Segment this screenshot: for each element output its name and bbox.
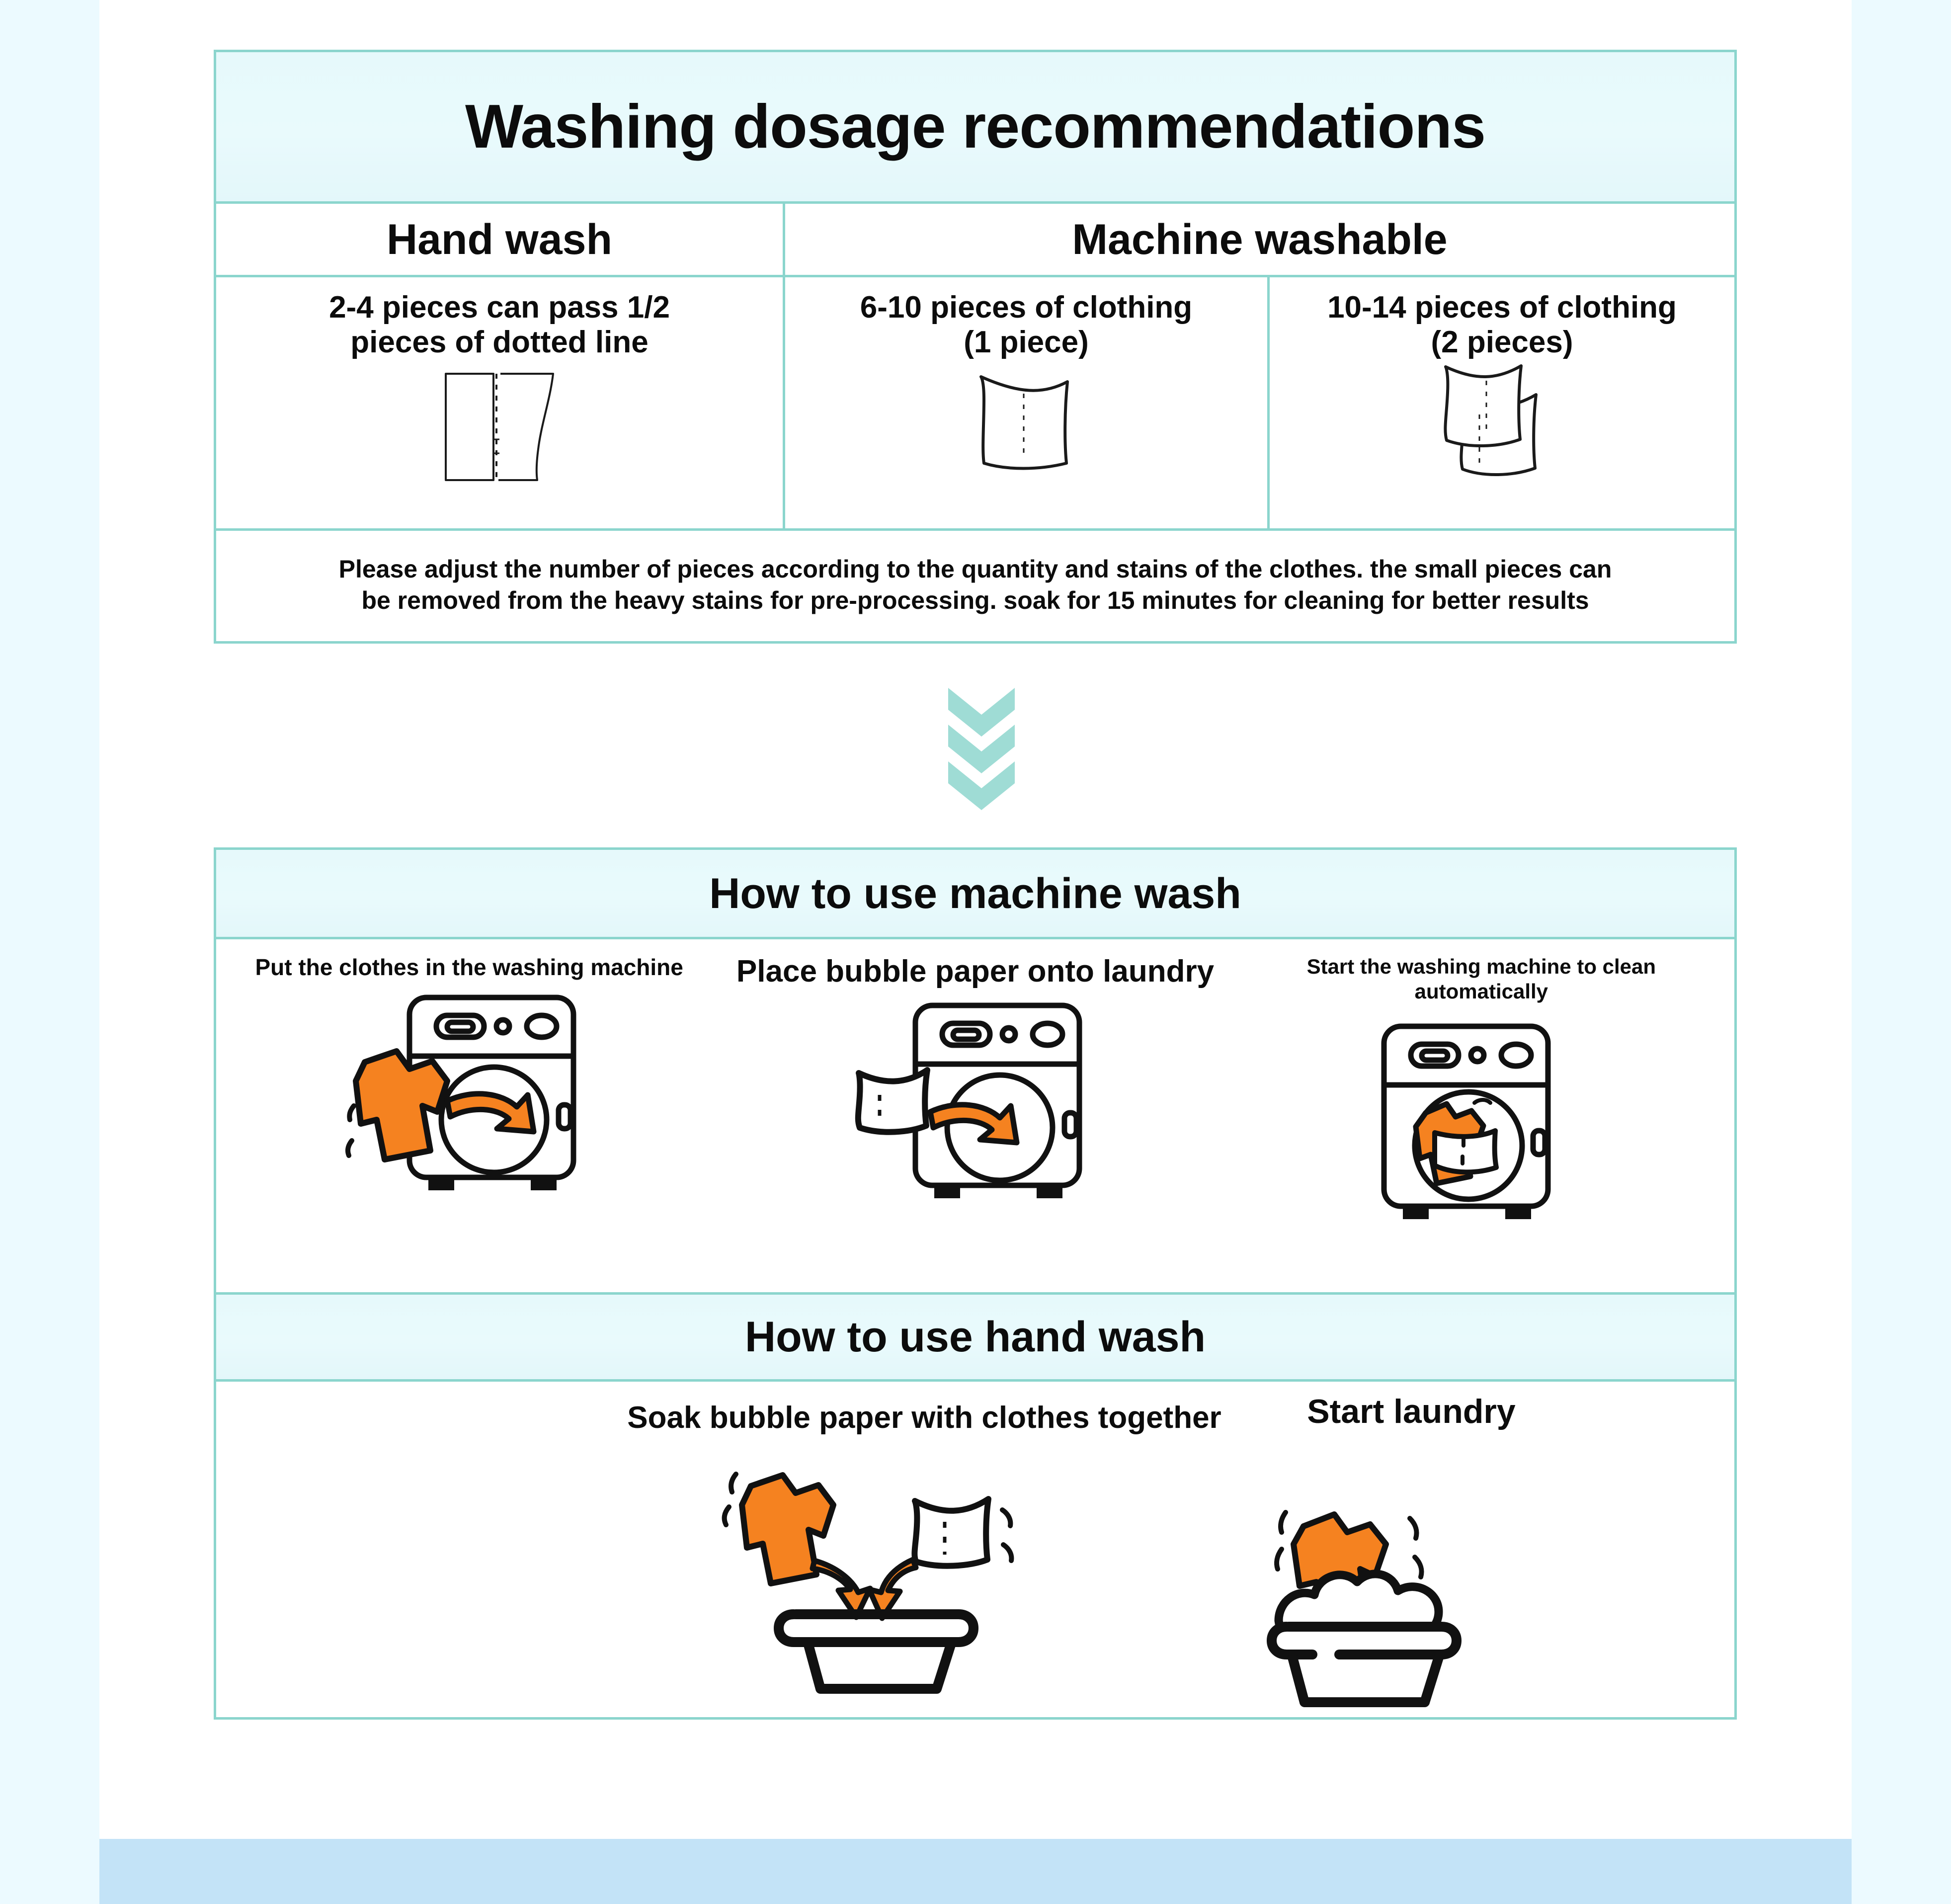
dosage-subhead-row: Hand wash Machine washable: [216, 201, 1734, 275]
dosage-cell-hand-wash: 2-4 pieces can pass 1/2 pieces of dotted…: [216, 277, 783, 528]
howto-machine-heading-row: How to use machine wash: [216, 850, 1734, 937]
washing-machine-insert-sheet-icon: [851, 994, 1099, 1208]
howto-hand-heading: How to use hand wash: [745, 1316, 1206, 1358]
subhead-machine-washable-label: Machine washable: [1072, 218, 1447, 261]
dosage-note-line1: Please adjust the number of pieces accor…: [339, 554, 1612, 585]
sheet-single-icon: [964, 365, 1088, 479]
machine-step-3: Start the washing machine to clean autom…: [1228, 939, 1734, 1292]
page-title: Washing dosage recommendations: [465, 96, 1485, 158]
chevron-down-triple-icon: [944, 686, 1019, 810]
washing-machine-running-icon: [1372, 1015, 1591, 1224]
machine-step-1: Put the clothes in the washing machine: [216, 939, 722, 1292]
howto-machine-steps: Put the clothes in the washing machine: [216, 937, 1734, 1292]
howto-machine-heading: How to use machine wash: [709, 872, 1241, 915]
dosage-cell-hand-line1: 2-4 pieces can pass 1/2: [329, 290, 670, 325]
dosage-note-line2: be removed from the heavy stains for pre…: [339, 585, 1612, 616]
machine-step-2: Place bubble paper onto laundry: [722, 939, 1228, 1292]
dosage-table: Washing dosage recommendations Hand wash…: [214, 50, 1737, 644]
dosage-cell-machine-one: 6-10 pieces of clothing (1 piece): [783, 277, 1267, 528]
sheet-double-icon: [1428, 360, 1577, 484]
dosage-cell-m1-line2: (1 piece): [860, 325, 1192, 360]
dosage-cell-hand-line2: pieces of dotted line: [329, 325, 670, 360]
dosage-cell-m1-line1: 6-10 pieces of clothing: [860, 290, 1192, 325]
washing-machine-insert-shirt-icon: [345, 987, 593, 1200]
basin-foam-shirt-icon: [1265, 1503, 1498, 1712]
hand-step-1-label: Soak bubble paper with clothes together: [609, 1401, 1240, 1435]
dosage-cell-m2-line2: (2 pieces): [1327, 325, 1677, 360]
machine-step-2-label: Place bubble paper onto laundry: [731, 954, 1220, 989]
howto-hand-steps: Soak bubble paper with clothes together …: [216, 1379, 1734, 1717]
machine-step-3-label: Start the washing machine to clean autom…: [1298, 954, 1665, 1003]
subhead-hand-wash-label: Hand wash: [387, 218, 612, 261]
machine-step-1-label: Put the clothes in the washing machine: [249, 954, 689, 981]
subhead-hand-wash: Hand wash: [216, 204, 783, 275]
dosage-body-row: 2-4 pieces can pass 1/2 pieces of dotted…: [216, 275, 1734, 528]
dosage-cell-m2-line1: 10-14 pieces of clothing: [1327, 290, 1677, 325]
basin-shirt-and-sheet-icon: [718, 1471, 1036, 1700]
dosage-note-row: Please adjust the number of pieces accor…: [216, 528, 1734, 639]
howto-panel: How to use machine wash Put the clothes …: [214, 847, 1737, 1720]
dosage-cell-machine-two: 10-14 pieces of clothing (2 pieces): [1267, 277, 1734, 528]
subhead-machine-washable: Machine washable: [783, 204, 1734, 275]
sheet-half-torn-icon: [435, 365, 564, 489]
hand-step-2-label: Start laundry: [1257, 1393, 1565, 1430]
dosage-title-row: Washing dosage recommendations: [216, 52, 1734, 201]
howto-hand-heading-row: How to use hand wash: [216, 1292, 1734, 1379]
